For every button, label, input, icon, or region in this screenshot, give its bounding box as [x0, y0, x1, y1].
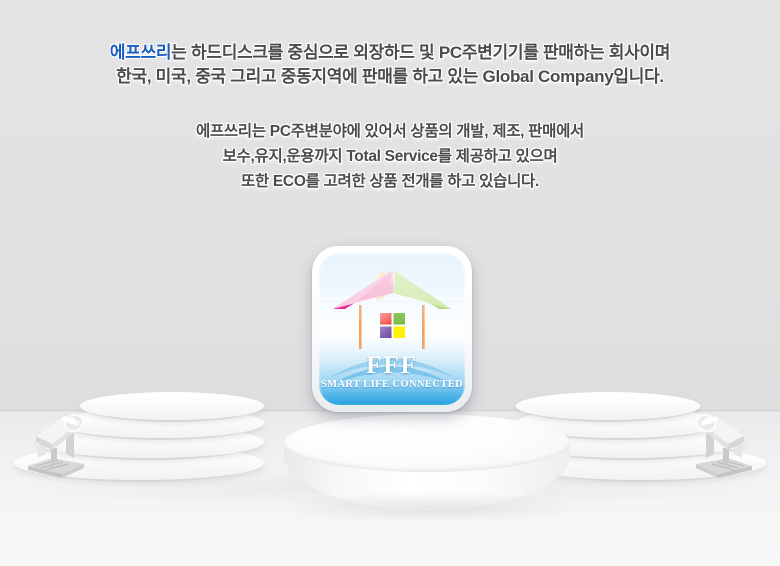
- intro-copy: 에프쓰리는 하드디스크를 중심으로 외장하드 및 PC주변기기를 판매하는 회사…: [0, 0, 780, 194]
- intro-p1-line-1: 에프쓰리는 하드디스크를 중심으로 외장하드 및 PC주변기기를 판매하는 회사…: [0, 41, 780, 65]
- podium-step-left-1-top: [80, 392, 264, 420]
- intro-paragraph-1: 에프쓰리는 하드디스크를 중심으로 외장하드 및 PC주변기기를 판매하는 회사…: [0, 41, 780, 89]
- logo-tagline: SMART LIFE CONNECTED: [319, 378, 465, 392]
- logo-panel: FFF SMART LIFE CONNECTED: [319, 253, 465, 405]
- logo-wordmark-block: FFF SMART LIFE CONNECTED: [319, 353, 465, 392]
- company-intro-banner: FFF SMART LIFE CONNECTED 에프쓰리는 하드디스크를 중심…: [0, 0, 780, 566]
- intro-paragraph-2: 에프쓰리는 PC주변분야에 있어서 상품의 개발, 제조, 판매에서 보수,유지…: [0, 119, 780, 194]
- intro-p1-line-2: 한국, 미국, 중국 그리고 중동지역에 판매를 하고 있는 Global Co…: [0, 65, 780, 89]
- brand-highlight: 에프쓰리: [110, 43, 171, 62]
- podium-center-shadow: [280, 492, 580, 522]
- podium-step-right-1-top: [516, 392, 700, 420]
- house-window: [380, 313, 405, 338]
- logo-wordmark: FFF: [319, 353, 465, 378]
- intro-p2-line-1: 에프쓰리는 PC주변분야에 있어서 상품의 개발, 제조, 판매에서: [0, 119, 780, 144]
- intro-p2-line-3: 또한 ECO를 고려한 상품 전개를 하고 있습니다.: [0, 169, 780, 194]
- fff-logo[interactable]: FFF SMART LIFE CONNECTED: [312, 246, 472, 412]
- intro-p1-line-1-rest: 는 하드디스크를 중심으로 외장하드 및 PC주변기기를 판매하는 회사이며: [171, 43, 670, 62]
- stage-spotlight-right: [688, 396, 758, 478]
- stage-spotlight-left: [22, 396, 92, 478]
- logo-frame: FFF SMART LIFE CONNECTED: [312, 246, 472, 412]
- house-pillar-right: [422, 305, 425, 349]
- podium-center-top: [284, 414, 570, 472]
- intro-p2-line-2: 보수,유지,운용까지 Total Service를 제공하고 있으며: [0, 144, 780, 169]
- house-pillar-left: [359, 305, 362, 349]
